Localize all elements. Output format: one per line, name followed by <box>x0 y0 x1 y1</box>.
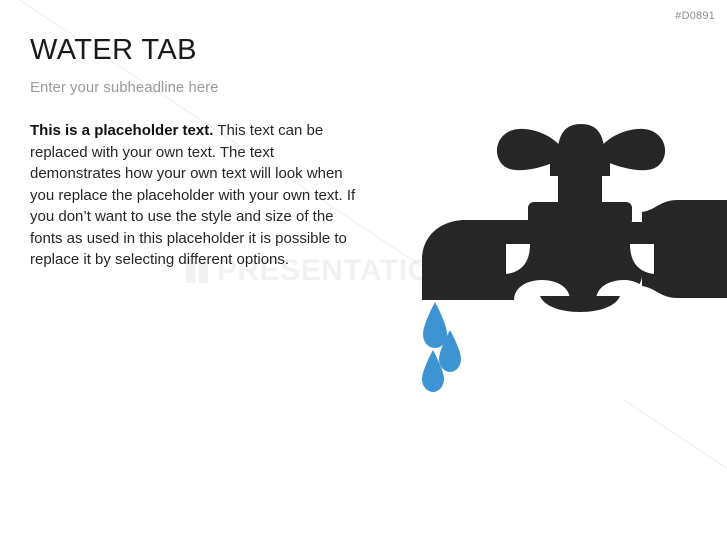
page-title: WATER TAB <box>30 34 197 66</box>
water-drop-small <box>422 350 444 392</box>
body-placeholder-text: This is a placeholder text. This text ca… <box>30 120 360 271</box>
product-code-label: #D0891 <box>675 10 715 22</box>
water-drops <box>422 302 461 392</box>
slide-canvas: #D0891 WATER TAB Enter your subheadline … <box>0 0 727 545</box>
water-tap-illustration <box>410 110 727 400</box>
body-lead-sentence: This is a placeholder text. <box>30 122 213 139</box>
water-drop-large <box>423 302 447 348</box>
body-rest-text: This text can be replaced with your own … <box>30 122 355 268</box>
faucet-negative-space <box>410 176 727 400</box>
subheadline-placeholder: Enter your subheadline here <box>30 78 218 97</box>
faucet-silhouette <box>422 124 727 300</box>
water-drop-middle <box>439 330 461 372</box>
faucet-base-bulge <box>540 296 620 312</box>
